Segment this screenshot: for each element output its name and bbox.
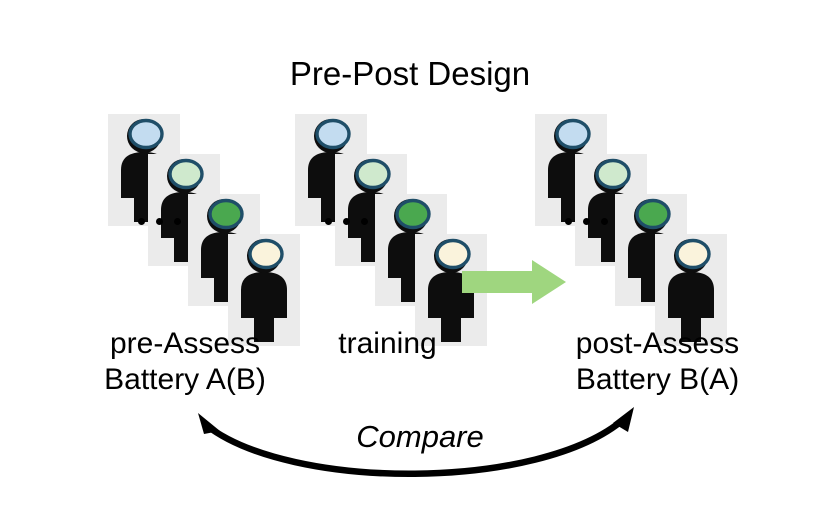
caption-line-1: training xyxy=(300,326,475,362)
caption-line-2: Battery A(B) xyxy=(75,362,295,398)
caption-pre-assessment: pre-Assess Battery A(B) xyxy=(75,326,295,398)
compare-label: Compare xyxy=(330,418,510,456)
caption-line-2: Battery B(A) xyxy=(545,362,770,398)
page-title: Pre-Post Design xyxy=(0,54,820,94)
person-group-pre-assessment xyxy=(100,110,310,325)
ellipsis-indicator xyxy=(565,218,608,225)
caption-training: training xyxy=(300,326,475,362)
caption-line-1: post-Assess xyxy=(545,326,770,362)
training-to-post-arrow-icon xyxy=(460,258,570,311)
ellipsis-indicator xyxy=(325,218,368,225)
caption-post-assessment: post-Assess Battery B(A) xyxy=(545,326,770,398)
pre-post-design-diagram: Pre-Post Design xyxy=(0,0,820,510)
ellipsis-indicator xyxy=(138,218,181,225)
caption-line-1: pre-Assess xyxy=(75,326,295,362)
